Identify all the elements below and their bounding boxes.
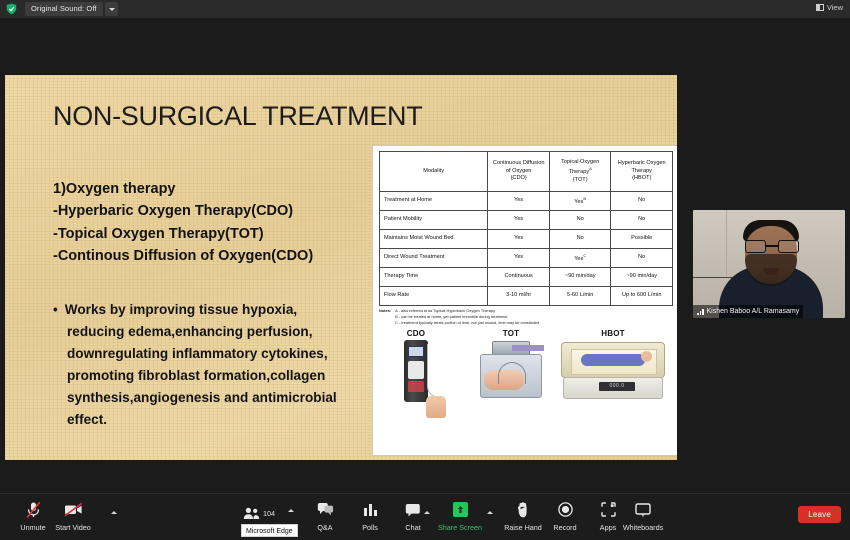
figure-caption: TOT bbox=[471, 329, 551, 338]
cell-hbot: ~90 min/day bbox=[611, 268, 673, 287]
camera-off-icon bbox=[64, 500, 83, 519]
whiteboard-icon bbox=[635, 500, 651, 519]
meeting-toolbar: Unmute Start Video 104 Microsoft Edge Q&… bbox=[0, 493, 850, 540]
lead-line: -Topical Oxygen Therapy(TOT) bbox=[53, 223, 373, 245]
header-line: (TOT) bbox=[551, 177, 610, 185]
notes-body: A - also referred to as Topical Hyperbar… bbox=[395, 308, 539, 326]
bullet-line: reducing edema,enhancing perfusion, bbox=[53, 321, 375, 343]
lead-line: -Hyperbaric Oxygen Therapy(CDO) bbox=[53, 200, 373, 222]
original-sound-caret-icon[interactable] bbox=[105, 2, 118, 16]
row-label: Therapy Time bbox=[380, 268, 488, 287]
toolbar-label: Polls bbox=[362, 523, 378, 532]
eyeglasses-icon bbox=[745, 240, 799, 253]
shared-slide: NON-SURGICAL TREATMENT 1)Oxygen therapy … bbox=[5, 75, 677, 460]
table-header-row: Modality Continuous Diffusion of Oxygen … bbox=[380, 152, 673, 192]
table-row: Maintains Moist Wound Bed Yes No Possibl… bbox=[380, 230, 673, 249]
row-label: Maintains Moist Wound Bed bbox=[380, 230, 488, 249]
table-row: Therapy Time Continuous ~90 min/day ~90 … bbox=[380, 268, 673, 287]
cdo-device-image bbox=[404, 340, 428, 402]
toolbar-label: Q&A bbox=[317, 523, 332, 532]
security-shield-icon[interactable] bbox=[6, 3, 17, 15]
chat-caret-icon[interactable] bbox=[423, 508, 432, 517]
patient-hand bbox=[426, 396, 446, 418]
participants-caret-icon[interactable] bbox=[287, 506, 296, 515]
cell-cdo: Yes bbox=[488, 211, 550, 230]
footnote-marker: C bbox=[583, 253, 586, 258]
zoom-meeting-window: Original Sound: Off View NON-SURGICAL TR… bbox=[0, 0, 850, 540]
participants-icon bbox=[243, 504, 260, 523]
header-line: (HBOT) bbox=[612, 175, 671, 183]
row-label: Direct Wound Treatment bbox=[380, 249, 488, 268]
qa-bubbles-icon bbox=[317, 500, 334, 519]
cell-tot: No bbox=[549, 230, 611, 249]
toolbar-label: Record bbox=[553, 523, 576, 532]
figure-hbot: HBOT 000.0 bbox=[557, 329, 669, 402]
slide-bullet-paragraph: • Works by improving tissue hypoxia, red… bbox=[53, 299, 375, 431]
figure-cdo: CDO bbox=[385, 329, 447, 402]
record-circle-icon bbox=[558, 500, 573, 519]
hbot-chamber-image: 000.0 bbox=[561, 340, 665, 402]
row-label: Patient Mobility bbox=[380, 211, 488, 230]
toolbar-participants-button[interactable]: 104 bbox=[243, 504, 275, 523]
slide-title: NON-SURGICAL TREATMENT bbox=[53, 101, 422, 132]
cell-tot: YesB bbox=[549, 192, 611, 211]
header-line: TherapyA bbox=[551, 166, 610, 176]
polls-bars-icon bbox=[363, 500, 378, 519]
participants-count: 104 bbox=[263, 509, 275, 518]
tot-chamber-image bbox=[476, 340, 546, 402]
cell-cdo: Yes bbox=[488, 230, 550, 249]
col-cdo: Continuous Diffusion of Oxygen (CDO) bbox=[488, 152, 550, 192]
table-row: Patient Mobility Yes No No bbox=[380, 211, 673, 230]
lead-line: -Continous Diffusion of Oxygen(CDO) bbox=[53, 245, 373, 267]
footnote-marker: B bbox=[583, 196, 586, 201]
slide-lead-list: 1)Oxygen therapy -Hyperbaric Oxygen Ther… bbox=[53, 178, 373, 267]
microsoft-edge-taskbar-label[interactable]: Microsoft Edge bbox=[241, 524, 298, 537]
cell-hbot: No bbox=[611, 249, 673, 268]
bullet-line: downregulating inflammatory cytokines, bbox=[53, 343, 375, 365]
row-label: Treatment at Home bbox=[380, 192, 488, 211]
participant-name: Kishen Baboo A/L Ramasamy bbox=[707, 308, 800, 315]
header-text: Therapy bbox=[569, 169, 590, 175]
microphone-muted-icon bbox=[26, 500, 41, 519]
cell-hbot: No bbox=[611, 211, 673, 230]
notes-label: Notes: bbox=[379, 308, 391, 326]
bullet-line: synthesis,angiogenesis and antimicrobial bbox=[53, 387, 375, 409]
cell-text: Yes bbox=[574, 256, 583, 262]
table-row: Flow Rate 3-10 ml/hr 5-60 L/min Up to 60… bbox=[380, 287, 673, 306]
figure-caption: HBOT bbox=[557, 329, 669, 338]
cell-tot: ~90 min/day bbox=[549, 268, 611, 287]
chat-bubble-icon bbox=[405, 500, 421, 519]
view-label: View bbox=[827, 3, 843, 12]
top-bar: Original Sound: Off View bbox=[0, 0, 850, 18]
toolbar-start-video-button[interactable]: Start Video bbox=[45, 500, 101, 532]
col-hbot: Hyperbaric Oxygen Therapy (HBOT) bbox=[611, 152, 673, 192]
footnote-marker: A bbox=[589, 166, 592, 171]
apps-icon bbox=[601, 500, 616, 519]
header-line: Hyperbaric Oxygen bbox=[612, 160, 671, 168]
col-modality: Modality bbox=[380, 152, 488, 192]
patient-head bbox=[641, 351, 652, 362]
therapy-figures: CDO TOT bbox=[379, 329, 673, 441]
start-video-caret-icon[interactable] bbox=[110, 508, 119, 517]
toolbar-label: Whiteboards bbox=[623, 523, 663, 532]
bullet-dot-icon: • bbox=[53, 299, 58, 321]
toolbar-label: Chat bbox=[405, 523, 420, 532]
cell-hbot: Up to 600 L/min bbox=[611, 287, 673, 306]
table-footnotes: Notes: A - also referred to as Topical H… bbox=[379, 308, 673, 326]
toolbar-label: Apps bbox=[600, 523, 616, 532]
header-line: Therapy bbox=[612, 168, 671, 176]
toolbar-label: Unmute bbox=[20, 523, 45, 532]
col-tot: Topical Oxygen TherapyA (TOT) bbox=[549, 152, 611, 192]
bullet-line: Works by improving tissue hypoxia, bbox=[65, 299, 297, 321]
layout-view-icon bbox=[816, 4, 824, 11]
device-keypad bbox=[408, 361, 424, 379]
cell-hbot: Possible bbox=[611, 230, 673, 249]
cell-cdo: 3-10 ml/hr bbox=[488, 287, 550, 306]
cell-cdo: Yes bbox=[488, 192, 550, 211]
header-line: Topical Oxygen bbox=[551, 159, 610, 167]
chamber-band bbox=[512, 345, 544, 351]
figure-caption: CDO bbox=[385, 329, 447, 338]
leave-button[interactable]: Leave bbox=[798, 506, 841, 523]
toolbar-label: Start Video bbox=[55, 523, 90, 532]
header-line: Continuous Diffusion bbox=[489, 160, 548, 168]
bullet-line: effect. bbox=[53, 409, 375, 431]
raise-hand-icon bbox=[517, 500, 529, 519]
cell-tot: No bbox=[549, 211, 611, 230]
row-label: Flow Rate bbox=[380, 287, 488, 306]
bullet-line: promoting fibroblast formation,collagen bbox=[53, 365, 375, 387]
figure-tot: TOT bbox=[471, 329, 551, 402]
view-button[interactable]: View bbox=[816, 3, 843, 12]
oxygen-tube bbox=[427, 344, 441, 398]
original-sound-button[interactable]: Original Sound: Off bbox=[25, 2, 103, 16]
wall-line bbox=[726, 210, 727, 277]
chamber-display: 000.0 bbox=[599, 382, 635, 391]
share-screen-icon bbox=[453, 500, 468, 519]
cell-hbot: No bbox=[611, 192, 673, 211]
participant-video-tile[interactable]: Kishen Baboo A/L Ramasamy bbox=[693, 210, 845, 318]
toolbar-whiteboards-button[interactable]: Whiteboards bbox=[615, 500, 671, 532]
toolbar-share-screen-button[interactable]: Share Screen bbox=[432, 500, 488, 532]
footnote-line: C - treatment typically treats portion o… bbox=[395, 320, 539, 326]
patient-body bbox=[581, 354, 645, 366]
cell-tot: YesC bbox=[549, 249, 611, 268]
device-label-strip bbox=[408, 381, 424, 392]
cell-tot: 5-60 L/min bbox=[549, 287, 611, 306]
participant-name-badge: Kishen Baboo A/L Ramasamy bbox=[693, 305, 803, 318]
network-signal-icon bbox=[697, 308, 704, 315]
lead-line: 1)Oxygen therapy bbox=[53, 178, 373, 200]
toolbar-label: Share Screen bbox=[438, 523, 482, 532]
device-screen bbox=[408, 346, 424, 357]
table-row: Direct Wound Treatment Yes YesC No bbox=[380, 249, 673, 268]
therapy-comparison-panel: Modality Continuous Diffusion of Oxygen … bbox=[372, 145, 677, 456]
cell-cdo: Continuous bbox=[488, 268, 550, 287]
header-line: of Oxygen bbox=[489, 168, 548, 176]
cell-cdo: Yes bbox=[488, 249, 550, 268]
therapy-comparison-table: Modality Continuous Diffusion of Oxygen … bbox=[379, 151, 673, 306]
header-line: Modality bbox=[381, 168, 486, 176]
share-screen-caret-icon[interactable] bbox=[486, 508, 495, 517]
table-row: Treatment at Home Yes YesB No bbox=[380, 192, 673, 211]
header-line: (CDO) bbox=[489, 175, 548, 183]
